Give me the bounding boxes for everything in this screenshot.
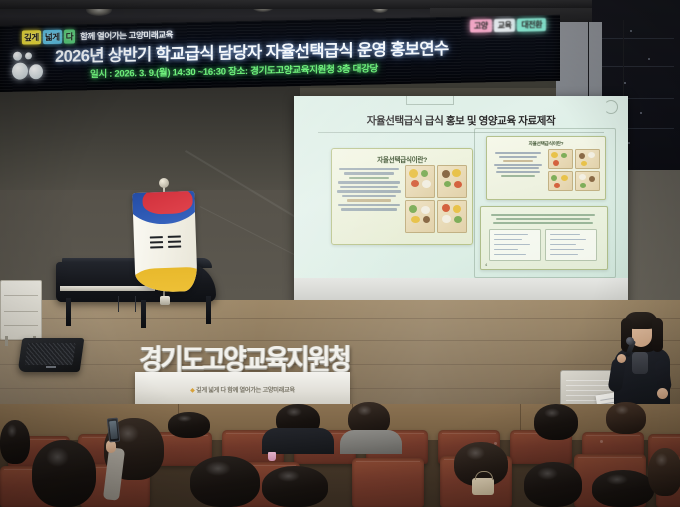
doc-top-photo-grid <box>548 149 600 191</box>
audience-head <box>32 440 96 507</box>
food-tray-photo <box>548 171 573 191</box>
doc-mini-panel <box>545 229 597 261</box>
drink-cup <box>268 452 276 461</box>
audience-head <box>534 404 578 440</box>
doc-page-number: 4 <box>485 262 487 267</box>
audience-shoulders <box>262 428 334 454</box>
audience-shoulders <box>340 430 402 454</box>
flag-trigram-bar <box>168 235 181 238</box>
food-tray-photo <box>575 171 600 191</box>
left-card-photo-grid <box>405 165 467 233</box>
slide-title: 자율선택급식 급식 홍보 및 영양교육 자료제작 <box>294 113 628 128</box>
left-card-text <box>336 166 402 213</box>
slide-left-card: 자율선택급식이란? <box>331 148 473 245</box>
audience-head <box>648 448 680 496</box>
screenshot-root: 깊게 넓게 다 함께 열어가는 고양미래교육 2026년 상반기 학교급식 담당… <box>0 0 680 507</box>
banner-badge-3: 대전환 <box>517 18 546 32</box>
sign-bullet-icon: ◆ <box>190 387 194 394</box>
presenter-hand-gesture <box>657 388 668 399</box>
flag-finial-icon <box>159 178 169 188</box>
tote-bag <box>472 478 494 495</box>
projection-screen: 자율선택급식 급식 홍보 및 영양교육 자료제작 자율선택급식이란? <box>294 96 628 311</box>
audience-head <box>524 462 582 507</box>
slide-doc-top: 자율선택급식이란? <box>486 136 606 200</box>
food-tray-photo <box>575 149 600 169</box>
doc-top-title: 자율선택급식이란? <box>487 141 605 147</box>
slide-header-box <box>406 96 454 105</box>
audience-head <box>168 412 210 438</box>
led-banner: 깊게 넓게 다 함께 열어가는 고양미래교육 2026년 상반기 학교급식 담당… <box>0 15 560 92</box>
piano-leg <box>66 298 71 326</box>
slide-surface: 자율선택급식 급식 홍보 및 영양교육 자료제작 자율선택급식이란? <box>294 96 628 278</box>
doc-top-text <box>492 150 544 179</box>
slide-corner-icon <box>604 100 618 114</box>
flag-trigram-bar <box>150 241 163 244</box>
audience-head <box>606 402 646 434</box>
banner-badges: 고양 교육 대전환 <box>470 18 546 33</box>
food-tray-photo <box>405 165 435 198</box>
flag-stand-base <box>160 296 170 305</box>
presenter-inner-top <box>632 352 648 374</box>
auditorium-seat <box>352 458 424 507</box>
audience-head <box>262 466 328 507</box>
flag-yellow-field <box>132 267 197 293</box>
stage-sign-subtext: ◆ 깊게 넓게 다 함께 열어가는 고양미래교육 <box>135 385 350 394</box>
stage-sign-panel: ◆ 깊게 넓게 다 함께 열어가는 고양미래교육 <box>135 372 350 406</box>
banner-badge-2: 교육 <box>494 19 516 32</box>
doc-bottom-panels <box>489 229 597 261</box>
banner-badge-1: 고양 <box>470 19 492 32</box>
presenter-hair-side <box>652 318 663 352</box>
food-tray-photo <box>548 149 573 169</box>
speaker-badge <box>46 366 56 368</box>
stage-sign-subtext-label: 깊게 넓게 다 함께 열어가는 고양미래교육 <box>196 387 295 394</box>
wall-seam <box>520 404 521 432</box>
flag-trigram-bar <box>168 240 181 243</box>
mascot-icon <box>12 51 48 82</box>
piano-leg <box>206 296 211 324</box>
smartphone <box>107 417 120 442</box>
slogan-chip-1: 깊게 <box>22 30 41 44</box>
white-cabinet <box>0 280 42 340</box>
audience-head <box>190 456 260 507</box>
audience-head <box>592 470 654 507</box>
slide-doc-bottom: 4 <box>480 206 608 270</box>
food-tray-photo <box>405 200 435 233</box>
microphone-head-icon <box>626 337 634 345</box>
piano-pedal <box>118 296 136 312</box>
seat-knob <box>600 440 603 443</box>
speaker-grill <box>25 343 76 365</box>
korean-flag-taegeukgi <box>132 191 197 293</box>
doc-mini-panel <box>489 229 541 261</box>
doc-bottom-header <box>489 212 597 226</box>
flag-trigram-bar <box>150 236 163 239</box>
piano-leg <box>141 300 146 328</box>
cabinet-leg <box>5 336 8 346</box>
flag-trigram-bar <box>168 245 181 248</box>
audience-head <box>0 420 30 464</box>
flag-trigram-bar <box>150 246 163 249</box>
food-tray-photo <box>437 165 467 198</box>
left-card-title: 자율선택급식이란? <box>332 154 472 164</box>
food-tray-photo <box>437 200 467 233</box>
bag-handle <box>475 471 493 480</box>
phone-screen <box>109 421 118 440</box>
